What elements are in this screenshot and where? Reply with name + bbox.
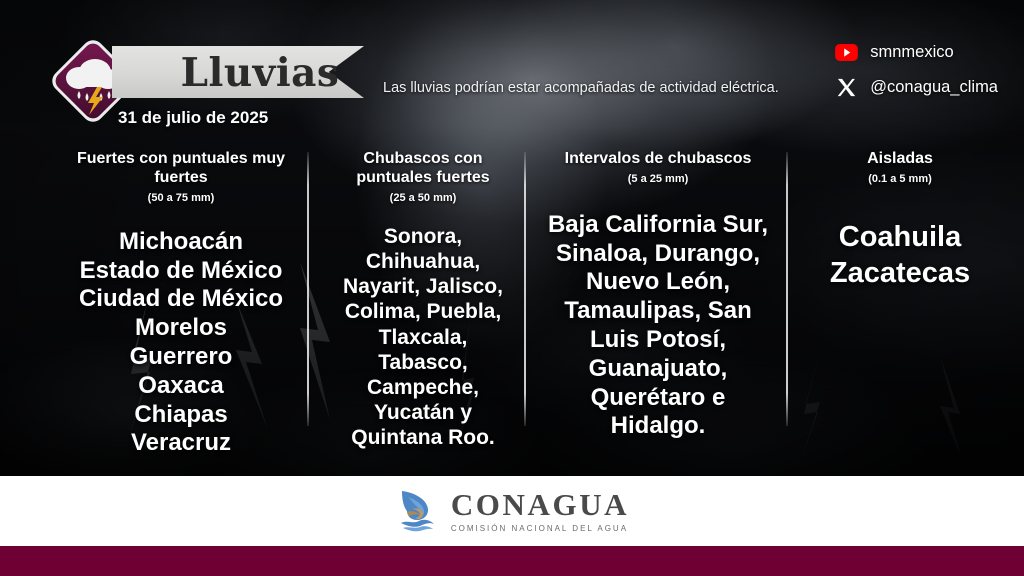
category-states: Baja California Sur,Sinaloa, Durango,Nue…: [534, 211, 782, 441]
subtitle-note: Las lluvias podrían estar acompañadas de…: [383, 80, 779, 96]
x-handle: @conagua_clima: [870, 78, 998, 97]
category-range: (5 a 25 mm): [534, 173, 782, 185]
conagua-logo-text: CONAGUA COMISIÓN NACIONAL DEL AGUA: [451, 489, 629, 533]
date-label: 31 de julio de 2025: [118, 108, 268, 128]
footer-color-bar: [0, 546, 1024, 576]
category-column-intervalos: Intervalos de chubascos (5 a 25 mm) Baja…: [534, 150, 782, 441]
category-heading: Fuertes con puntuales muy fuertes: [58, 150, 304, 188]
social-row-youtube[interactable]: smnmexico: [834, 40, 998, 64]
conagua-eagle-water-icon: [395, 487, 439, 535]
category-states: MichoacánEstado de MéxicoCiudad de Méxic…: [58, 228, 304, 458]
conagua-tagline: COMISIÓN NACIONAL DEL AGUA: [451, 524, 629, 533]
youtube-icon: [834, 40, 858, 64]
category-states: CoahuilaZacatecas: [800, 219, 1000, 292]
rain-categories: Fuertes con puntuales muy fuertes (50 a …: [0, 150, 1024, 440]
category-range: (50 a 75 mm): [58, 192, 304, 204]
category-column-fuertes: Fuertes con puntuales muy fuertes (50 a …: [58, 150, 304, 458]
category-heading: Aisladas: [800, 150, 1000, 169]
category-heading: Chubascos con puntuales fuertes: [328, 150, 518, 188]
category-range: (0.1 a 5 mm): [800, 173, 1000, 185]
social-handles: smnmexico @conagua_clima: [834, 40, 998, 99]
conagua-name: CONAGUA: [451, 489, 629, 520]
youtube-handle: smnmexico: [870, 43, 953, 62]
x-twitter-icon: [834, 75, 858, 99]
category-range: (25 a 50 mm): [328, 192, 518, 204]
category-states: Sonora,Chihuahua,Nayarit, Jalisco,Colima…: [328, 224, 518, 451]
category-heading: Intervalos de chubascos: [534, 150, 782, 169]
social-row-x[interactable]: @conagua_clima: [834, 75, 998, 99]
conagua-logo: CONAGUA COMISIÓN NACIONAL DEL AGUA: [0, 476, 1024, 546]
category-column-aisladas: Aisladas (0.1 a 5 mm) CoahuilaZacatecas: [800, 150, 1000, 291]
page-title: Lluvias: [160, 48, 360, 98]
infographic-root: Lluvias 31 de julio de 2025 Las lluvias …: [0, 0, 1024, 576]
category-column-chubascos-fuertes: Chubascos con puntuales fuertes (25 a 50…: [328, 150, 518, 450]
